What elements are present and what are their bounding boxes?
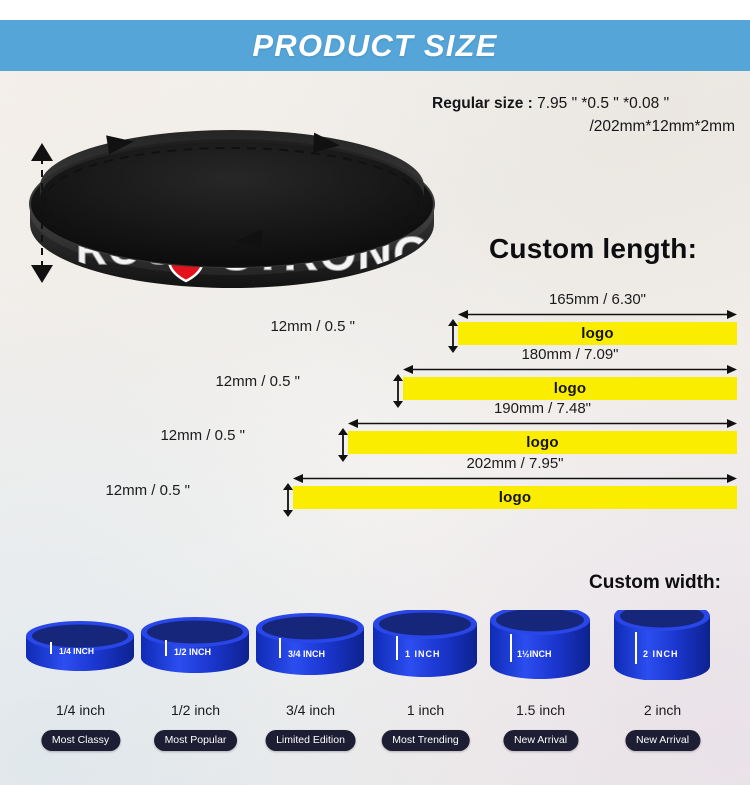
ring-caption: 2 inch: [600, 702, 725, 718]
ring-badge: New Arrival: [503, 730, 578, 751]
row-length-label: 190mm / 7.48": [348, 400, 737, 417]
ring-caption: 3/4 inch: [248, 702, 373, 718]
ring-illustration: 1/4 INCH: [18, 610, 143, 680]
width-option: 2 INCH 2 inch New Arrival: [600, 610, 725, 770]
ring-inner-label: 2 INCH: [643, 649, 679, 659]
ring-badge: Most Popular: [154, 730, 238, 751]
row-width-label: 12mm / 0.5 ": [35, 482, 190, 499]
width-option: 1 INCH 1 inch Most Trending: [363, 610, 488, 770]
product-size-infographic: PRODUCT SIZE Regular size : 7.95 " *0.5 …: [0, 0, 750, 785]
wristband-photo: ROC STRONG: [22, 112, 442, 302]
ring-illustration: 1/2 INCH: [133, 610, 258, 680]
ring-illustration: 3/4 INCH: [248, 610, 373, 680]
length-bar: logo: [458, 322, 737, 345]
ring-illustration: 1½INCH: [478, 610, 603, 680]
width-option: 1/4 INCH 1/4 inch Most Classy: [18, 610, 143, 770]
length-bar-text: logo: [554, 380, 586, 397]
length-row: 12mm / 0.5 " 202mm / 7.95" logo: [0, 464, 750, 519]
row-width-label: 12mm / 0.5 ": [200, 318, 355, 335]
row-length-arrow: [348, 417, 737, 430]
width-option: 3/4 INCH 3/4 inch Limited Edition: [248, 610, 373, 770]
ring-caption: 1/4 inch: [18, 702, 143, 718]
ring-inner-label: 1/2 INCH: [174, 647, 211, 657]
row-length-label: 180mm / 7.09": [403, 346, 737, 363]
row-width-label: 12mm / 0.5 ": [145, 373, 300, 390]
page-title: PRODUCT SIZE: [252, 28, 497, 64]
product-size-banner: PRODUCT SIZE: [0, 20, 750, 71]
regular-size-label: Regular size :: [432, 95, 533, 112]
ring-inner-label: 3/4 INCH: [288, 649, 325, 659]
regular-size-mm: /202mm*12mm*2mm: [432, 115, 742, 138]
row-length-arrow: [458, 308, 737, 321]
top-white-strip: [0, 0, 750, 20]
width-option: 1/2 INCH 1/2 inch Most Popular: [133, 610, 258, 770]
length-bar-text: logo: [526, 434, 558, 451]
wristband-illustration: ROC STRONG: [22, 112, 442, 302]
row-length-label: 165mm / 6.30": [458, 291, 737, 308]
ring-caption: 1/2 inch: [133, 702, 258, 718]
regular-size-spec: Regular size : 7.95 " *0.5 " *0.08 " /20…: [432, 92, 742, 139]
length-bar-text: logo: [499, 489, 531, 506]
ring-caption: 1.5 inch: [478, 702, 603, 718]
length-bar-text: logo: [581, 325, 613, 342]
row-length-arrow: [293, 472, 737, 485]
ring-badge: Most Trending: [381, 730, 470, 751]
length-bar: logo: [403, 377, 737, 400]
row-length-arrow: [403, 363, 737, 376]
band-width-arrow: [30, 143, 54, 283]
ring-badge: Limited Edition: [265, 730, 356, 751]
length-bar: logo: [348, 431, 737, 454]
custom-length-heading: Custom length:: [489, 233, 697, 265]
custom-width-heading: Custom width:: [589, 572, 721, 594]
ring-illustration: 1 INCH: [363, 610, 488, 680]
ring-badge: Most Classy: [41, 730, 120, 751]
ring-illustration: 2 INCH: [600, 610, 725, 680]
custom-length-rows: 12mm / 0.5 " 165mm / 6.30" logo 12mm / 0…: [0, 300, 750, 530]
ring-inner-label: 1 INCH: [405, 649, 441, 659]
regular-size-inches: 7.95 " *0.5 " *0.08 ": [537, 95, 669, 112]
length-bar: logo: [293, 486, 737, 509]
custom-width-rings: 1/4 INCH 1/4 inch Most Classy 1/2 INCH: [0, 610, 750, 770]
row-length-label: 202mm / 7.95": [293, 455, 737, 472]
row-width-label: 12mm / 0.5 ": [90, 427, 245, 444]
ring-inner-label: 1½INCH: [517, 649, 552, 659]
width-option: 1½INCH 1.5 inch New Arrival: [478, 610, 603, 770]
ring-inner-label: 1/4 INCH: [59, 646, 94, 656]
ring-caption: 1 inch: [363, 702, 488, 718]
ring-badge: New Arrival: [625, 730, 700, 751]
